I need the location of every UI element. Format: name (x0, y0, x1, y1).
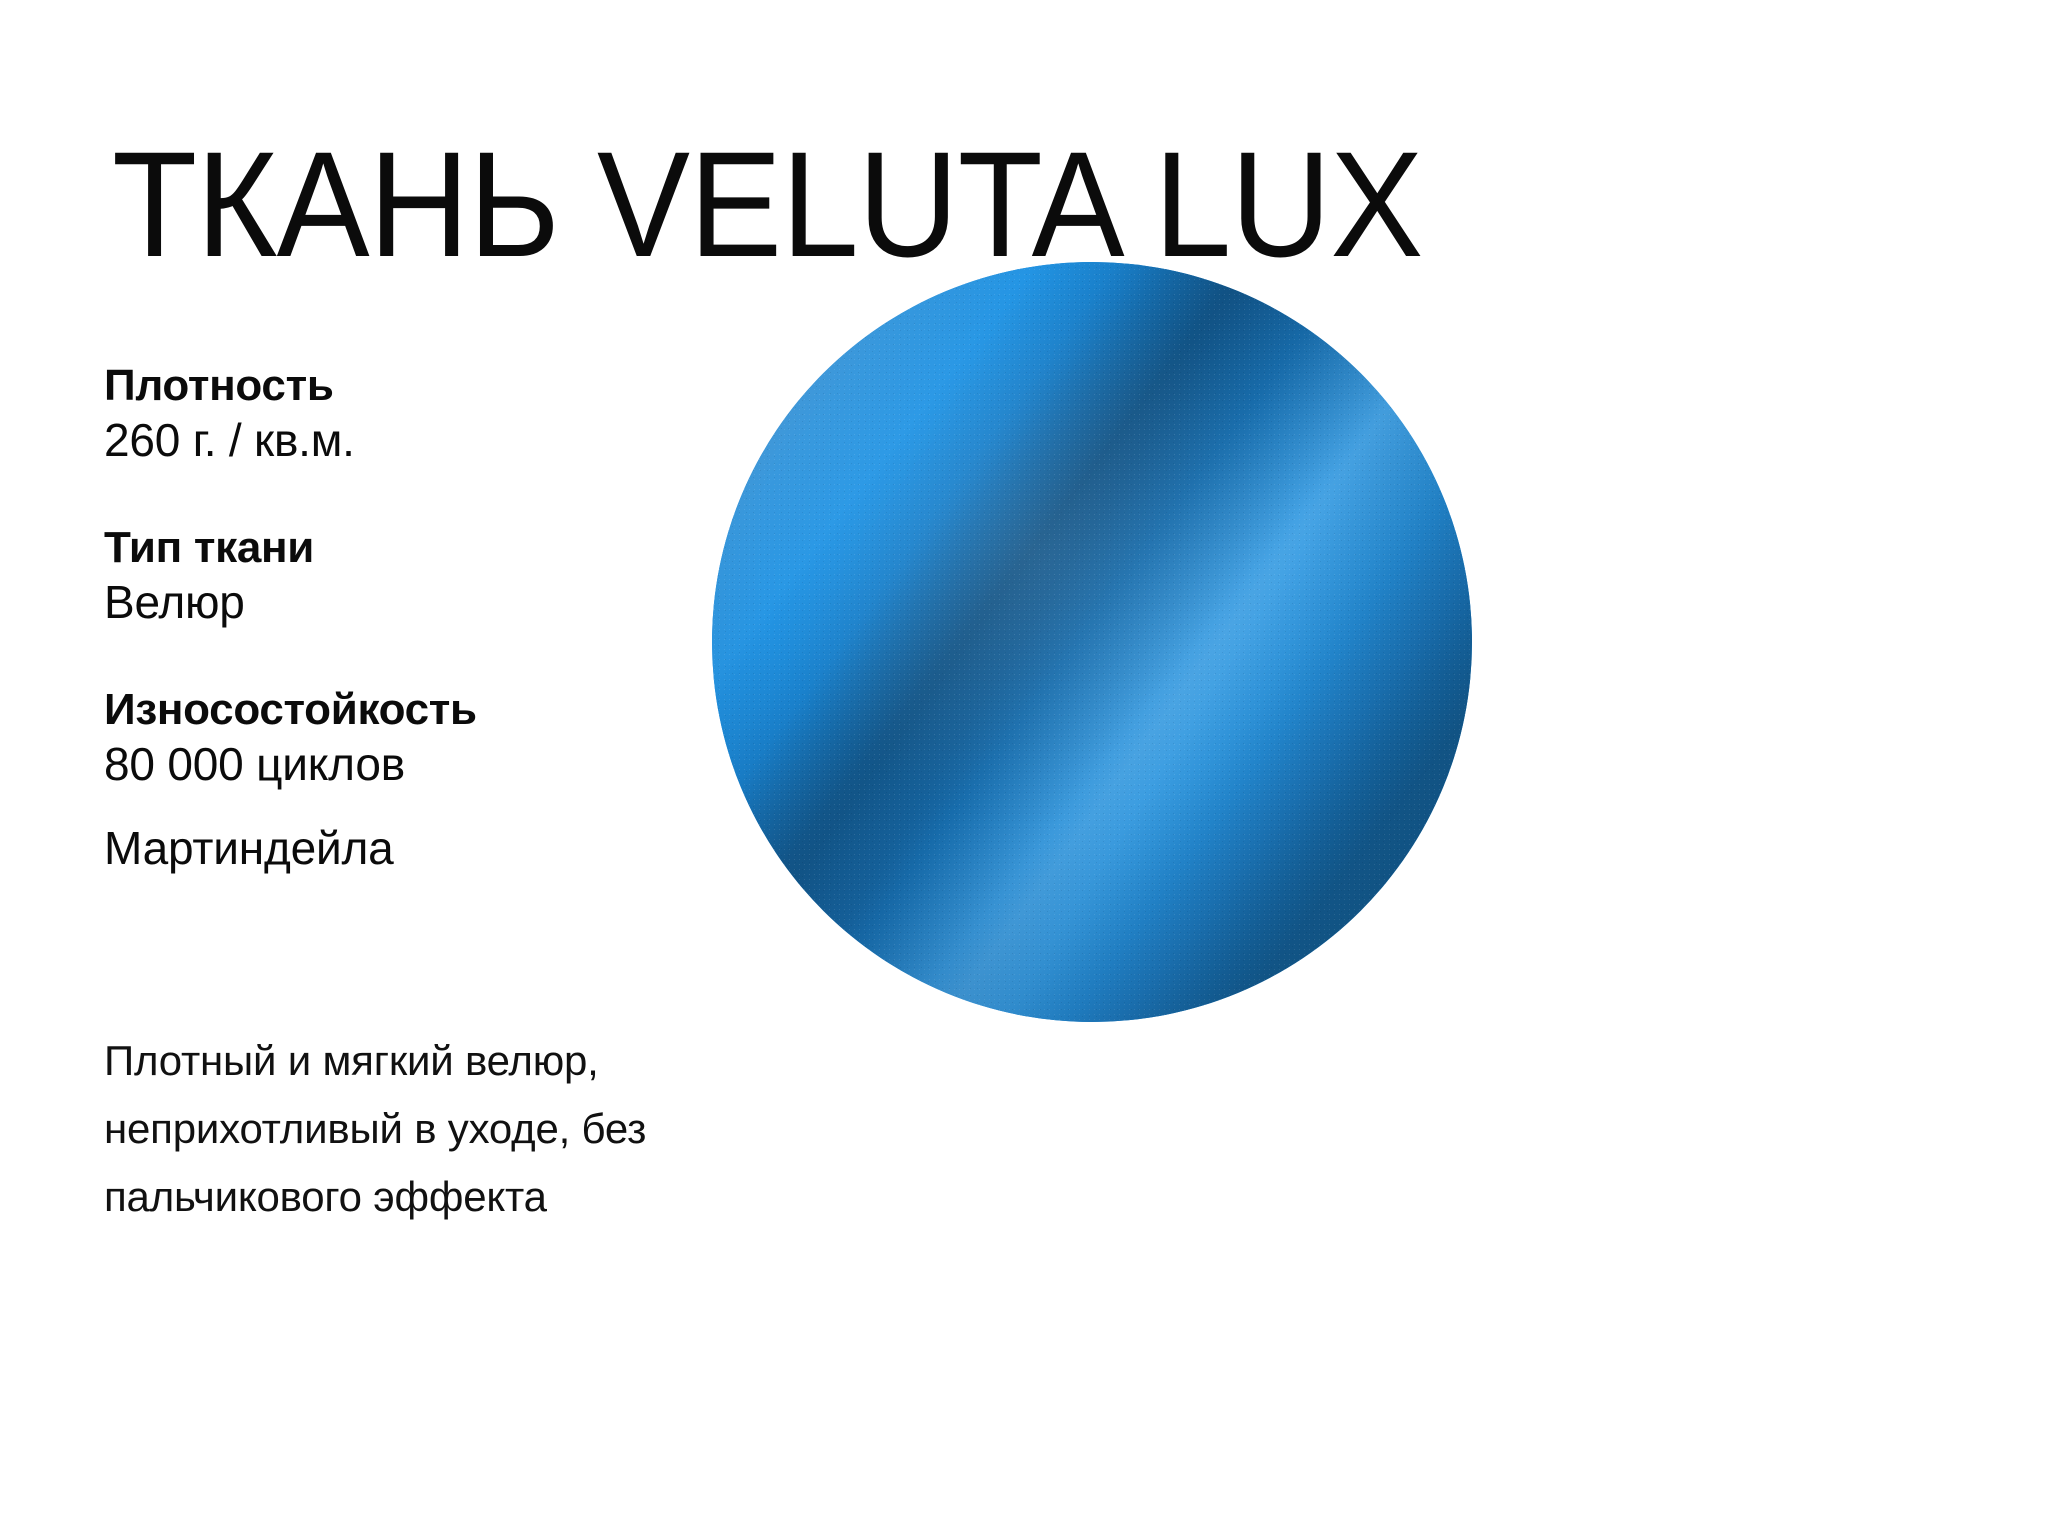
fabric-vignette (712, 262, 1472, 1022)
fabric-swatch-image (712, 262, 1472, 1022)
page-title: ТКАНЬ VELUTA LUX (112, 129, 1422, 279)
product-spec-card: ТКАНЬ VELUTA LUX Плотность 260 г. / кв.м… (0, 0, 2048, 1536)
product-description: Плотный и мягкий велюр, неприхотливый в … (104, 1027, 904, 1231)
